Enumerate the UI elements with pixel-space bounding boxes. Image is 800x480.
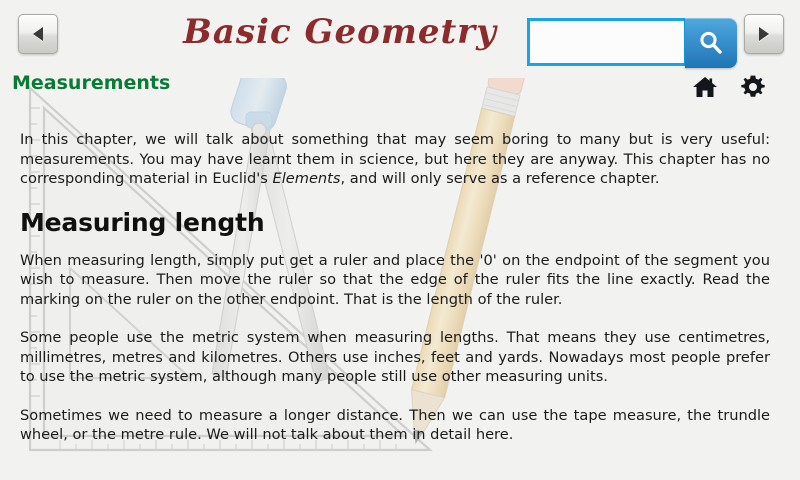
book-title-elements: Elements: [272, 170, 340, 187]
app-root: Basic Geometry Measurements: [0, 0, 800, 480]
magnifier-icon: [698, 30, 724, 56]
search-bar: [527, 18, 735, 68]
app-title: Basic Geometry: [160, 12, 520, 52]
settings-button[interactable]: [738, 72, 768, 102]
home-button[interactable]: [690, 72, 720, 102]
chapter-header-row: Measurements: [0, 72, 800, 108]
top-header-bar: Basic Geometry: [0, 0, 800, 70]
section-heading-measuring-length: Measuring length: [20, 208, 770, 237]
paragraph-longer-distance: Sometimes we need to measure a longer di…: [20, 406, 770, 445]
paragraph-metric-system: Some people use the metric system when m…: [20, 328, 770, 387]
paragraph-how-to-measure: When measuring length, simply put get a …: [20, 251, 770, 310]
search-input[interactable]: [527, 18, 687, 66]
search-button[interactable]: [685, 18, 737, 68]
triangle-left-icon: [33, 27, 43, 41]
previous-page-button[interactable]: [18, 14, 58, 54]
paragraph-intro-part-b: , and will only serve as a reference cha…: [341, 170, 660, 187]
triangle-right-icon: [759, 27, 769, 41]
next-page-button[interactable]: [744, 14, 784, 54]
page-title: Measurements: [12, 72, 170, 94]
chapter-content: In this chapter, we will talk about some…: [0, 112, 800, 480]
home-icon: [692, 74, 718, 100]
paragraph-intro: In this chapter, we will talk about some…: [20, 130, 770, 189]
gear-icon: [740, 74, 766, 100]
